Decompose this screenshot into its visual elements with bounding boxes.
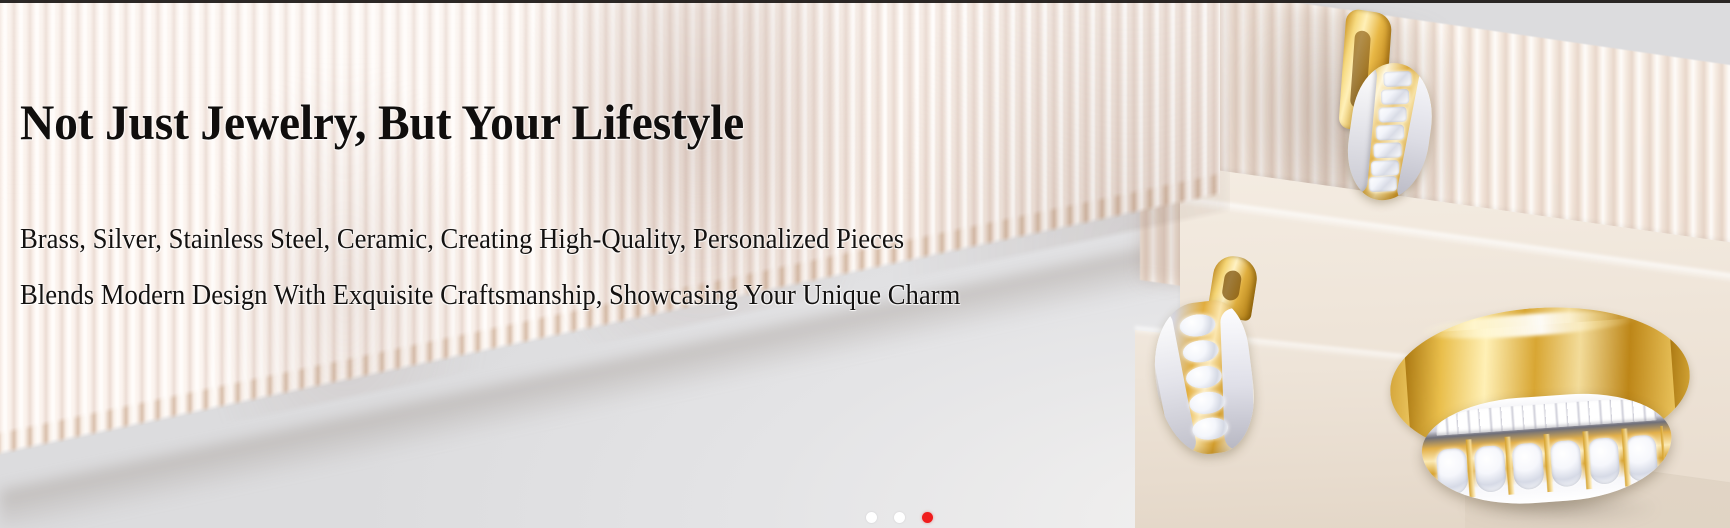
top-edge-bar [0, 0, 1730, 3]
carousel-dots[interactable] [866, 512, 933, 523]
banner-subline-one: Brass, Silver, Stainless Steel, Ceramic,… [20, 225, 904, 254]
carousel-dot-2[interactable] [894, 512, 905, 523]
carousel-dot-3-active[interactable] [922, 512, 933, 523]
carousel-dot-1[interactable] [866, 512, 877, 523]
banner-subline-two: Blends Modern Design With Exquisite Craf… [20, 281, 960, 310]
hero-banner: Not Just Jewelry, But Your Lifestyle Bra… [0, 0, 1730, 528]
banner-content: Not Just Jewelry, But Your Lifestyle Bra… [0, 0, 1730, 528]
banner-headline: Not Just Jewelry, But Your Lifestyle [20, 95, 744, 149]
